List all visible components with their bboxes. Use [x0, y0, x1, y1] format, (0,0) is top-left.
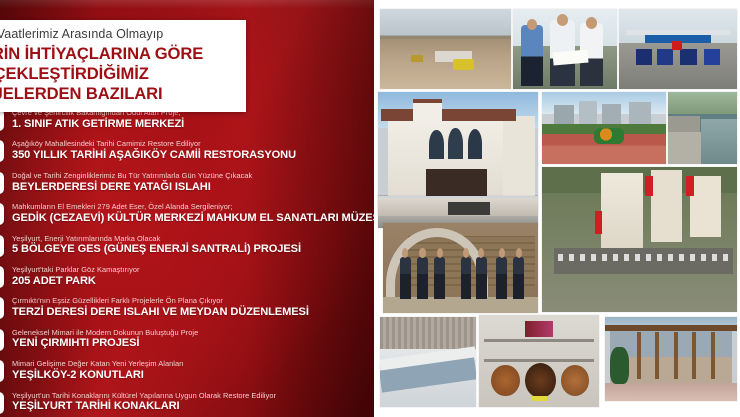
panel-top-sheen: [0, 0, 374, 9]
list-item: Doğal ve Tarihi Zenginliklerimiz Bu Tür …: [0, 171, 374, 197]
photo-snowy-stream-channel: [380, 317, 476, 407]
title-card: Seçim Vaatlerimiz Arasında Olmayıp ŞEHRİ…: [0, 20, 246, 112]
list-item: Aşağıköy Mahallesindeki Tarihi Camimiz R…: [0, 139, 374, 165]
project-subtitle: Yeşilyurt, Enerji Yatırımlarında Marka O…: [12, 234, 368, 243]
photo-aerial-residential-blocks: [542, 167, 737, 312]
left-red-panel: Seçim Vaatlerimiz Arasında Olmayıp ŞEHRİ…: [0, 0, 374, 417]
bullet-marker-icon: [0, 297, 4, 319]
person-figure: [400, 257, 411, 298]
project-subtitle: Mahkumların El Emekleri 279 Adet Eser, Ö…: [12, 202, 368, 211]
title-line-1: ŞEHRİN İHTİYAÇLARINA GÖRE: [0, 44, 236, 63]
list-item: Yeşilyurt'taki Parklar Göz Kamaştırıyor …: [0, 265, 374, 291]
project-list: Çevre ve Şehircilik Bakanlığından Ödül A…: [0, 108, 374, 417]
photo-officials-under-arch: [383, 223, 538, 313]
title-line-2: GERÇEKLEŞTİRDİĞİMİZ: [0, 64, 236, 83]
bullet-marker-icon: [0, 203, 4, 225]
person-figure: [434, 257, 445, 298]
title-line-3: PROJELERDEN BAZILARI: [0, 84, 236, 103]
project-title: 205 ADET PARK: [12, 275, 368, 288]
list-item: Yeşilyurt'un Tarihi Konaklarını Kültürel…: [0, 391, 374, 417]
list-item: Çırmıktı'nın Eşsiz Güzellikleri Farklı P…: [0, 296, 374, 322]
photo-collage: [374, 0, 740, 417]
project-title: YEŞİLYURT TARİHİ KONAKLARI: [12, 400, 368, 413]
list-item: Geleneksel Mimari ile Modern Dokunun Bul…: [0, 328, 374, 354]
project-title: YEŞİLKÖY-2 KONUTLARI: [12, 369, 368, 382]
bullet-marker-icon: [0, 172, 4, 194]
list-item: Mahkumların El Emekleri 279 Adet Eser, Ö…: [0, 202, 374, 228]
list-item: Yeşilyurt, Enerji Yatırımlarında Marka O…: [0, 234, 374, 260]
project-title: 350 YILLIK TARİHİ AŞAĞIKÖY CAMİİ RESTORA…: [12, 149, 368, 162]
photo-aerial-construction: [380, 9, 511, 89]
photo-restored-mansion: [378, 92, 538, 212]
photo-river-walkway: [668, 92, 737, 164]
bullet-marker-icon: [0, 266, 4, 288]
project-subtitle: Yeşilyurt'un Tarihi Konaklarını Kültürel…: [12, 391, 368, 400]
project-subtitle: Geleneksel Mimari ile Modern Dokunun Bul…: [12, 328, 368, 337]
project-subtitle: Mimari Gelişime Değer Katan Yeni Yerleşi…: [12, 359, 368, 368]
bullet-marker-icon: [0, 235, 4, 257]
project-subtitle: Yeşilyurt'taki Parklar Göz Kamaştırıyor: [12, 265, 368, 274]
project-title: GEDİK (CEZAEVİ) KÜLTÜR MERKEZİ MAHKUM EL…: [12, 212, 368, 225]
bullet-marker-icon: [0, 360, 4, 382]
person-figure: [496, 257, 507, 298]
photo-waste-collection-center: [619, 9, 737, 89]
project-title: YENİ ÇIRMIHTI PROJESİ: [12, 337, 368, 350]
project-title: TERZİ DERESİ DERE ISLAHI VE MEYDAN DÜZEN…: [12, 306, 368, 319]
presentation-slide: Seçim Vaatlerimiz Arasında Olmayıp ŞEHRİ…: [0, 0, 740, 417]
project-title: BEYLERDERESİ DERE YATAĞI ISLAHI: [12, 181, 368, 194]
list-item: Mimari Gelişime Değer Katan Yeni Yerleşi…: [0, 359, 374, 385]
person-figure: [417, 257, 428, 298]
project-subtitle: Aşağıköy Mahallesindeki Tarihi Camimiz R…: [12, 139, 368, 148]
photo-officials-reviewing-plans: [513, 9, 617, 89]
photo-park-and-residences: [542, 92, 666, 164]
project-subtitle: Doğal ve Tarihi Zenginliklerimiz Bu Tür …: [12, 171, 368, 180]
bullet-marker-icon: [0, 329, 4, 351]
photo-restored-konak: [605, 317, 737, 401]
project-subtitle: Çırmıktı'nın Eşsiz Güzellikleri Farklı P…: [12, 296, 368, 305]
project-title: 1. SINIF ATIK GETİRME MERKEZİ: [12, 118, 368, 131]
photo-museum-copper-crafts: [479, 315, 599, 407]
project-title: 5 BÖLGEYE GES (GÜNEŞ ENERJİ SANTRALİ) PR…: [12, 243, 368, 256]
person-figure: [461, 257, 472, 298]
person-figure: [476, 257, 487, 298]
title-kicker: Seçim Vaatlerimiz Arasında Olmayıp: [0, 27, 236, 43]
bullet-marker-icon: [0, 140, 4, 162]
bullet-marker-icon: [0, 392, 4, 414]
person-figure: [513, 257, 524, 298]
